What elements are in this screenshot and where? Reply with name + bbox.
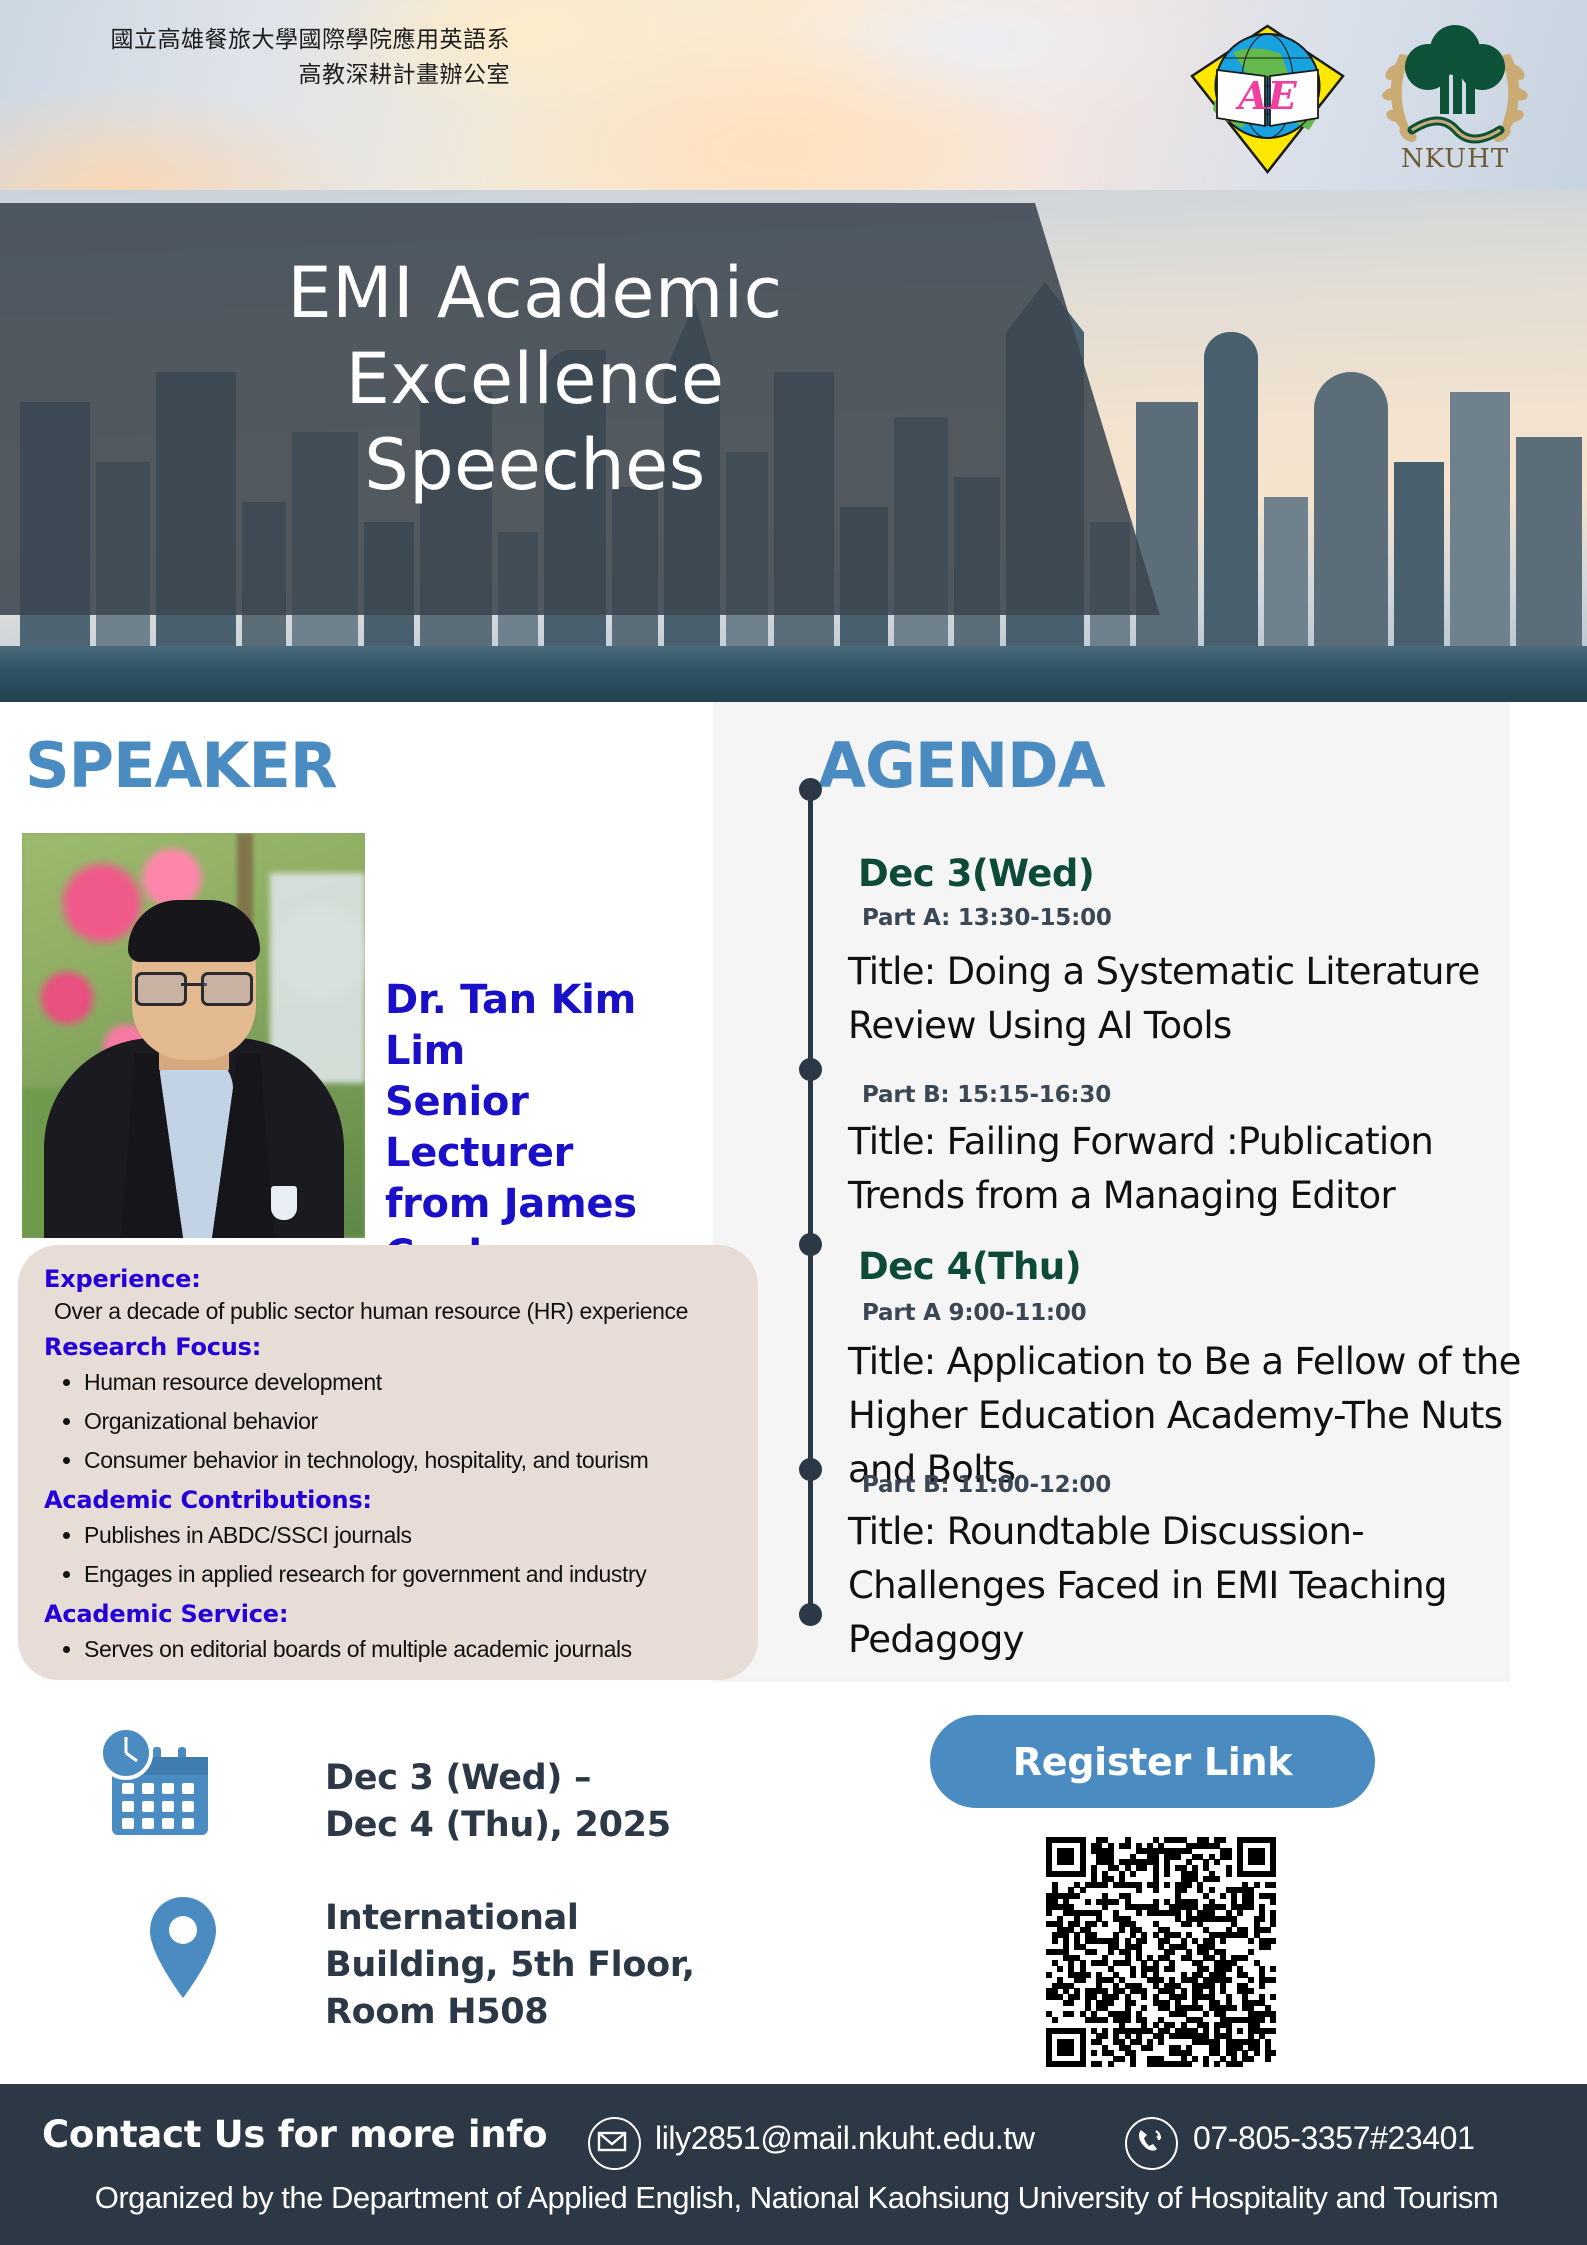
bio-list-item: Organizational behavior (84, 1402, 732, 1441)
timeline-dot (799, 1603, 822, 1626)
calendar-clock-icon (98, 1725, 248, 1845)
agenda-session-title: Title: Roundtable Discussion-Challenges … (848, 1505, 1548, 1667)
bio-lead-text: Over a decade of public sector human res… (54, 1295, 732, 1327)
event-date-text: Dec 3 (Wed) – Dec 4 (Thu), 2025 (325, 1755, 671, 1849)
svg-text:NKUHT: NKUHT (1401, 144, 1509, 174)
organization-text: 國立高雄餐旅大學國際學院應用英語系 高教深耕計畫辦公室 (60, 22, 510, 92)
speaker-bio-box: Experience:Over a decade of public secto… (18, 1245, 758, 1680)
contact-email[interactable]: lily2851@mail.nkuht.edu.tw (655, 2120, 1035, 2157)
timeline-dot (799, 1458, 822, 1481)
footer-bar (0, 2084, 1587, 2245)
bio-list-item: Engages in applied research for governme… (84, 1555, 732, 1594)
bio-heading: Academic Service: (44, 1600, 732, 1628)
location-pin-icon (148, 1895, 218, 2000)
email-icon (588, 2117, 641, 2170)
timeline-dot (799, 778, 822, 801)
agenda-part-time: Part A: 13:30-15:00 (862, 905, 1112, 931)
agenda-session-title: Title: Failing Forward :Publication Tren… (848, 1115, 1548, 1223)
bio-list: Serves on editorial boards of multiple a… (44, 1630, 732, 1669)
agenda-session-title: Title: Doing a Systematic Literature Rev… (848, 945, 1548, 1053)
agenda-day-label: Dec 3(Wed) (858, 852, 1094, 895)
event-location-text: International Building, 5th Floor, Room … (325, 1895, 695, 2036)
agenda-timeline-line (808, 800, 813, 1615)
bio-list-item: Serves on editorial boards of multiple a… (84, 1630, 732, 1669)
timeline-dot (799, 1233, 822, 1256)
speaker-photo (22, 833, 365, 1238)
applied-english-logo-icon: AE (1185, 14, 1350, 179)
bio-list: Human resource developmentOrganizational… (44, 1363, 732, 1480)
agenda-part-time: Part A 9:00-11:00 (862, 1300, 1086, 1326)
hero-city-base (0, 646, 1587, 702)
bio-heading: Research Focus: (44, 1333, 732, 1361)
speaker-section-title: SPEAKER (25, 735, 337, 797)
bio-heading: Academic Contributions: (44, 1486, 732, 1514)
hero-title: EMI Academic Excellence Speeches (175, 250, 895, 508)
bio-heading: Experience: (44, 1265, 732, 1293)
agenda-day-label: Dec 4(Thu) (858, 1245, 1081, 1288)
bio-list-item: Publishes in ABDC/SSCI journals (84, 1516, 732, 1555)
contact-phone[interactable]: 07-805-3357#23401 (1193, 2120, 1474, 2157)
agenda-part-time: Part B: 15:15-16:30 (862, 1082, 1111, 1108)
phone-icon (1125, 2117, 1178, 2170)
organizer-text: Organized by the Department of Applied E… (24, 2180, 1569, 2216)
poster-root: 國立高雄餐旅大學國際學院應用英語系 高教深耕計畫辦公室 AE (0, 0, 1587, 2245)
bio-list-item: Consumer behavior in technology, hospita… (84, 1441, 732, 1480)
nkuht-logo-icon: NKUHT (1370, 12, 1540, 182)
register-link-button[interactable]: Register Link (930, 1715, 1375, 1808)
bio-list-item: Human resource development (84, 1363, 732, 1402)
contact-label: Contact Us for more info (42, 2113, 547, 2156)
register-qr-code[interactable] (1046, 1837, 1276, 2067)
svg-text:AE: AE (1235, 73, 1297, 118)
bio-list: Publishes in ABDC/SSCI journalsEngages i… (44, 1516, 732, 1594)
agenda-part-time: Part B: 11:00-12:00 (862, 1472, 1111, 1498)
hero-banner: EMI Academic Excellence Speeches (0, 190, 1587, 702)
agenda-section-title: AGENDA (818, 735, 1105, 797)
timeline-dot (799, 1058, 822, 1081)
